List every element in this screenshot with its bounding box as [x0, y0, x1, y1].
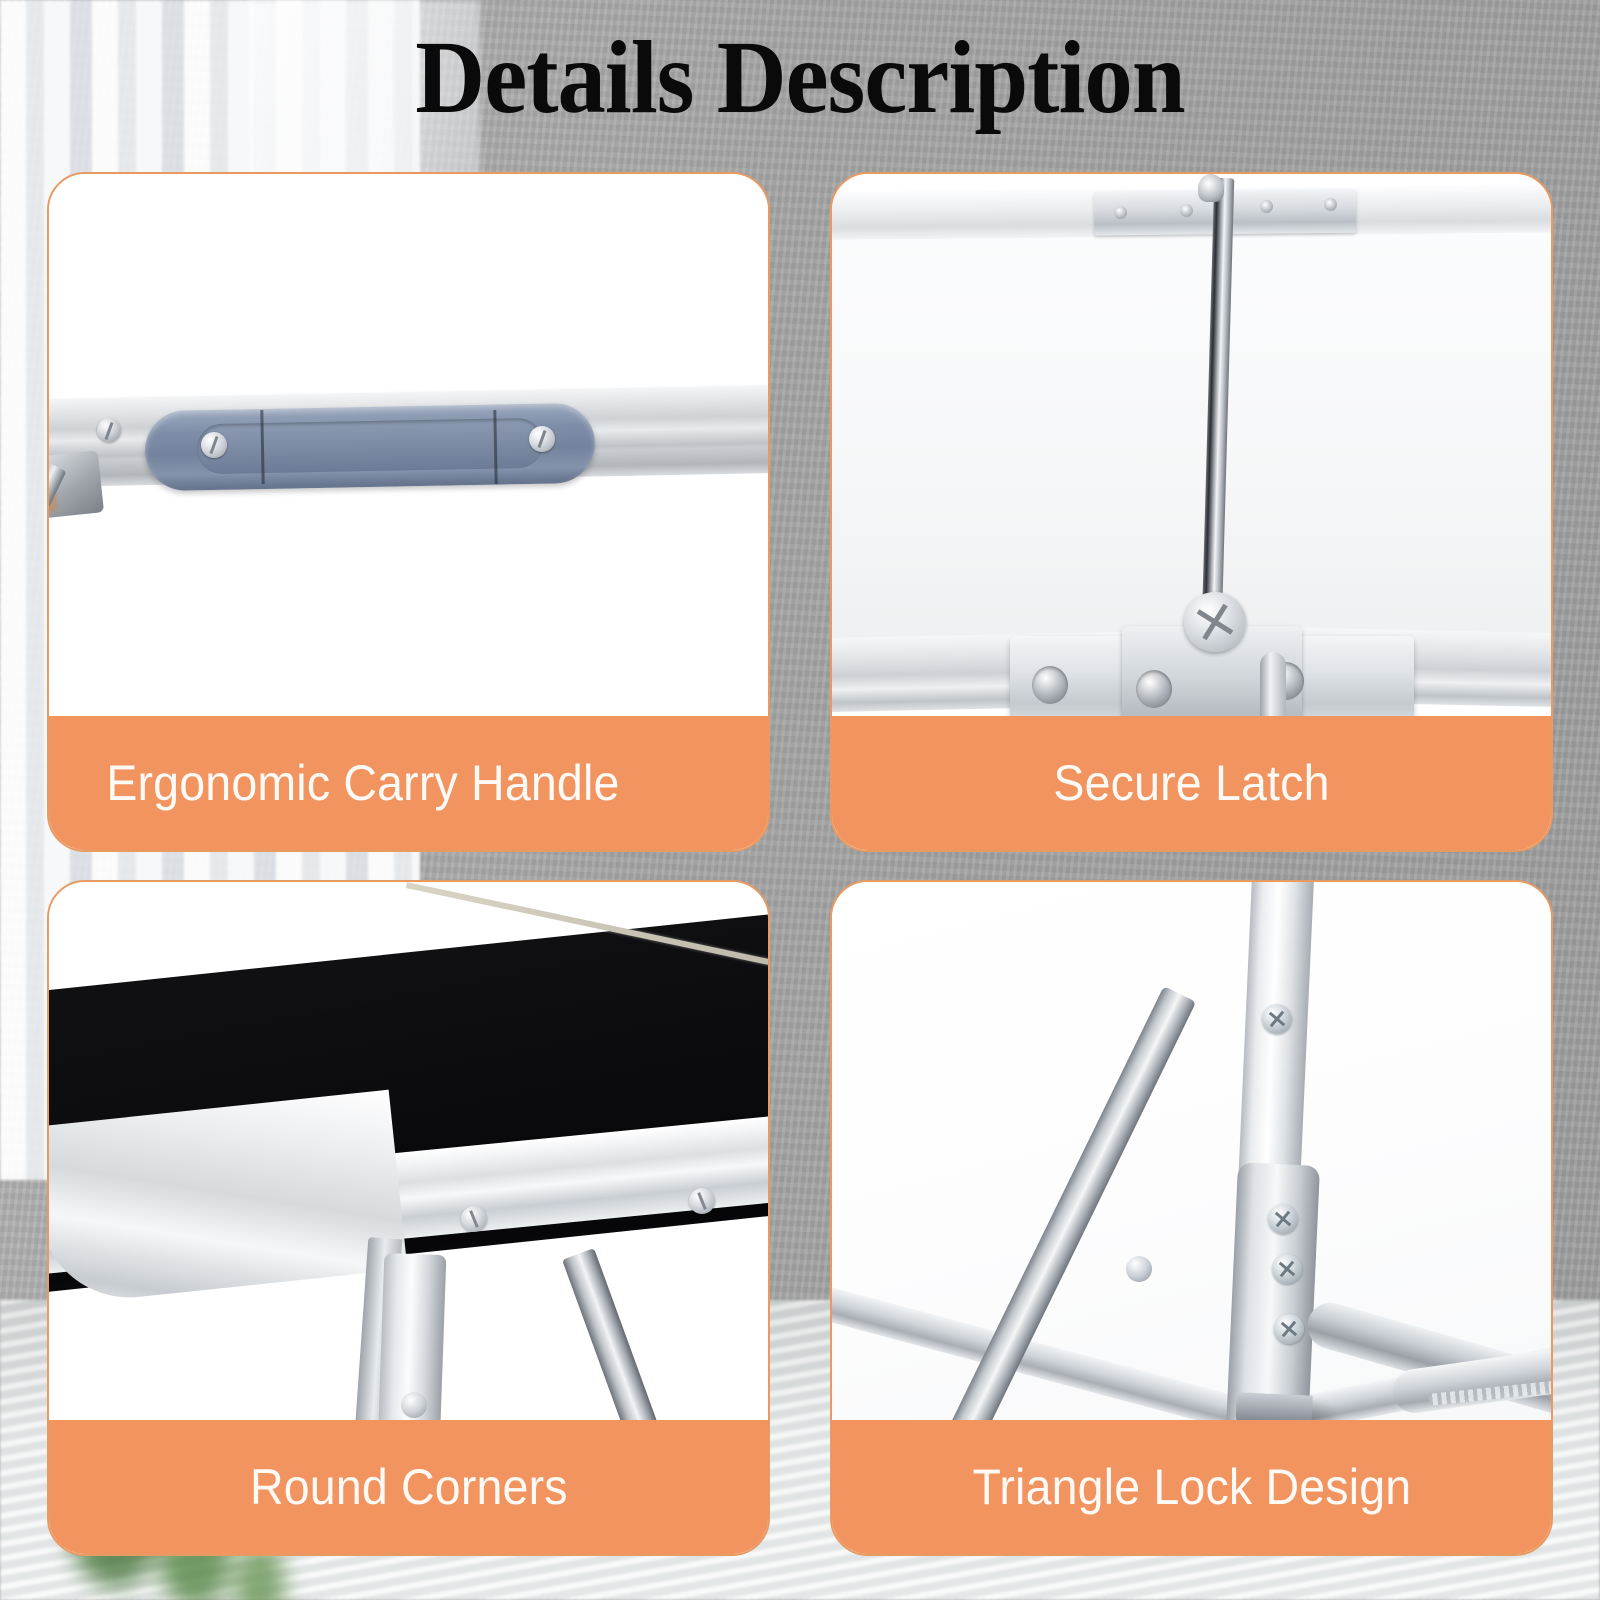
latch-plate-hole — [1260, 200, 1273, 213]
leg-sleeve — [1226, 1162, 1320, 1420]
card-caption-secure-latch: Secure Latch — [832, 716, 1551, 850]
latch-rod-tip — [1198, 174, 1224, 202]
strut-screw — [1126, 1256, 1152, 1282]
feature-card-ergonomic-carry-handle[interactable]: Ergonomic Carry Handle — [47, 172, 770, 852]
card-caption-round-corners: Round Corners — [49, 1420, 768, 1554]
edge-screw — [461, 1206, 487, 1232]
leg-screw — [1274, 1314, 1304, 1344]
latch-plate-hole — [1180, 204, 1193, 217]
latch-pin — [1260, 652, 1286, 716]
feature-card-secure-latch[interactable]: Secure Latch — [830, 172, 1553, 852]
latch-hole — [1032, 666, 1068, 704]
latch-plate-hole — [1324, 198, 1337, 211]
card-caption-text: Ergonomic Carry Handle — [106, 754, 619, 812]
rounded-corner — [49, 1090, 407, 1307]
card-caption-ergonomic-carry-handle: Ergonomic Carry Handle — [49, 716, 768, 850]
page-title: Details Description — [56, 22, 1544, 134]
product-photo-triangle-lock — [832, 882, 1551, 1420]
leg-foot — [1235, 1392, 1313, 1420]
card-caption-text: Round Corners — [250, 1458, 568, 1516]
card-caption-text: Secure Latch — [1053, 754, 1329, 812]
leg-screw — [1262, 1004, 1292, 1034]
product-photo-secure-latch — [832, 174, 1551, 716]
latch-plate-hole — [1114, 206, 1127, 219]
feature-card-round-corners[interactable]: Round Corners — [47, 880, 770, 1556]
product-photo-carry-handle — [49, 174, 768, 716]
card-caption-triangle-lock-design: Triangle Lock Design — [832, 1420, 1551, 1554]
feature-card-triangle-lock-design[interactable]: Triangle Lock Design — [830, 880, 1553, 1556]
feature-card-grid: Ergonomic Carry Handle Secure L — [47, 172, 1553, 1556]
edge-screw — [689, 1188, 715, 1214]
tabletop-panel — [832, 228, 1551, 648]
latch-hole — [1136, 670, 1172, 708]
rail-screw — [97, 418, 121, 442]
card-caption-text: Triangle Lock Design — [972, 1458, 1411, 1516]
leg-brace-upper — [562, 1248, 707, 1420]
leg-screw — [1272, 1254, 1302, 1284]
latch-pivot-screw — [1184, 592, 1246, 652]
product-photo-round-corners — [49, 882, 768, 1420]
leg-rivet — [401, 1392, 427, 1418]
handle-screw-right — [529, 426, 555, 452]
handle-screw-left — [201, 432, 227, 458]
leg-screw — [1268, 1204, 1298, 1234]
